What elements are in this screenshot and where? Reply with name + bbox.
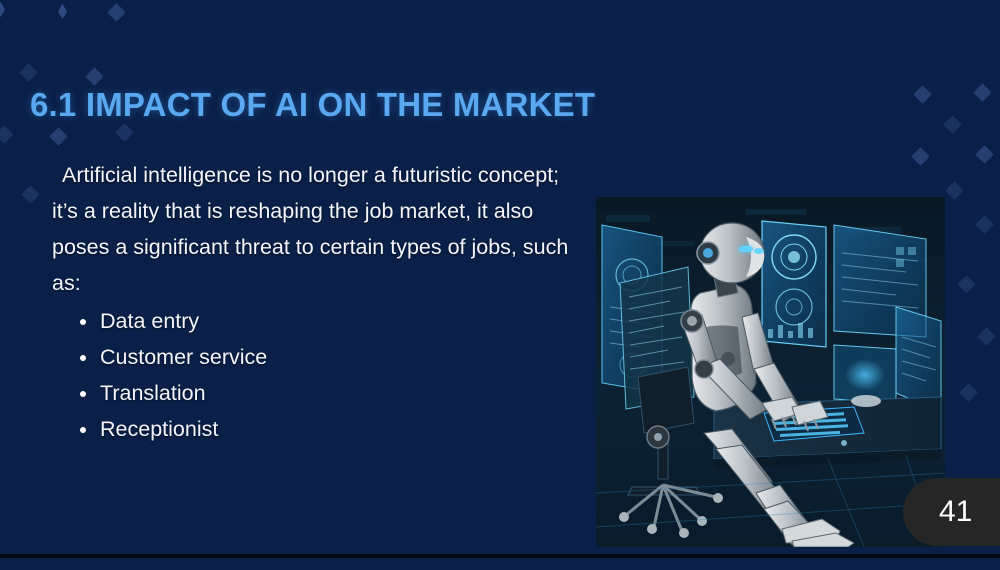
presentation-slide: 6.1 IMPACT OF AI ON THE MARKET Artificia… bbox=[0, 0, 1000, 570]
diamond-icon bbox=[107, 3, 125, 21]
diamond-icon bbox=[911, 147, 929, 165]
diamond-icon bbox=[58, 4, 67, 19]
body-paragraph-text: Artificial intelligence is no longer a f… bbox=[52, 163, 568, 295]
list-item: Receptionist bbox=[52, 411, 572, 447]
diamond-icon bbox=[0, 125, 14, 143]
list-item-label: Translation bbox=[100, 381, 206, 405]
list-item-label: Customer service bbox=[100, 345, 267, 369]
bottom-band bbox=[0, 558, 1000, 570]
diamond-icon bbox=[957, 275, 975, 293]
list-item-label: Receptionist bbox=[100, 417, 218, 441]
diamond-icon bbox=[913, 85, 931, 103]
diamond-icon bbox=[975, 145, 993, 163]
list-item: Customer service bbox=[52, 339, 572, 375]
diamond-icon bbox=[943, 115, 961, 133]
diamond-icon bbox=[959, 383, 977, 401]
diamond-icon bbox=[49, 127, 67, 145]
body-paragraph: Artificial intelligence is no longer a f… bbox=[52, 157, 572, 301]
robot-illustration bbox=[596, 197, 945, 547]
diamond-icon bbox=[0, 2, 5, 17]
diamond-icon bbox=[115, 123, 133, 141]
diamond-icon bbox=[945, 181, 963, 199]
job-types-list: Data entry Customer service Translation … bbox=[52, 303, 572, 447]
diamond-icon bbox=[973, 83, 991, 101]
diamond-icon bbox=[85, 67, 103, 85]
diamond-icon bbox=[19, 63, 37, 81]
list-item: Translation bbox=[52, 375, 572, 411]
robot-workstation-image bbox=[596, 197, 945, 547]
page-number-label: 41 bbox=[939, 495, 972, 529]
slide-title: 6.1 IMPACT OF AI ON THE MARKET bbox=[30, 86, 595, 124]
diamond-icon bbox=[977, 327, 995, 345]
list-item-label: Data entry bbox=[100, 309, 199, 333]
diamond-icon bbox=[21, 185, 39, 203]
list-item: Data entry bbox=[52, 303, 572, 339]
slide-body: Artificial intelligence is no longer a f… bbox=[52, 157, 572, 447]
diamond-icon bbox=[975, 215, 993, 233]
page-number-badge: 41 bbox=[903, 478, 1000, 546]
